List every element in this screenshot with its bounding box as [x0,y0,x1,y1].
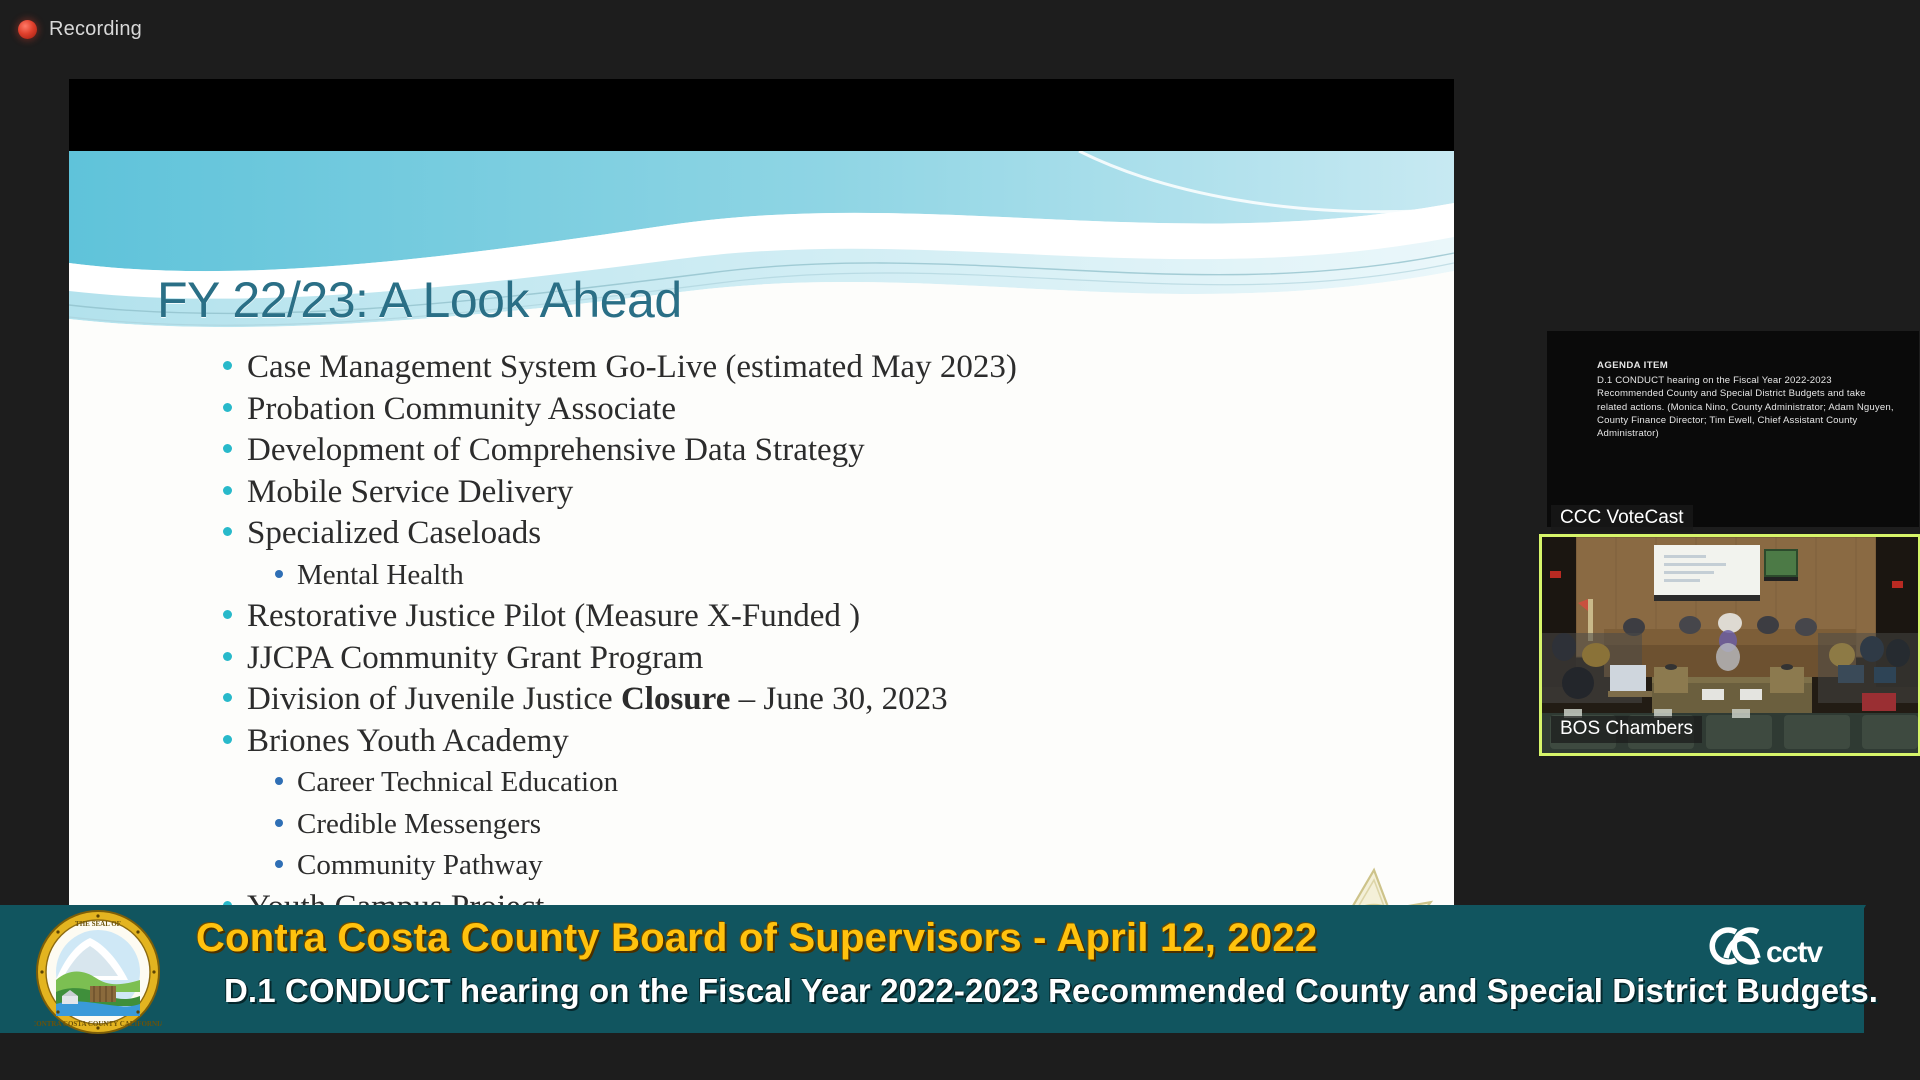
bullet-dot-icon [223,361,232,370]
svg-text:CONTRA COSTA COUNTY CALIFORNIA: CONTRA COSTA COUNTY CALIFORNIA [34,1020,162,1028]
slide-bullet-text: Mental Health [297,555,464,597]
slide-bullet-list: Case Management System Go-Live (estimate… [165,347,1345,913]
slide-bullet-item: Community Pathway [165,845,1345,887]
slide-bullet-item: JJCPA Community Grant Program [165,638,1345,680]
banner-title: Contra Costa County Board of Supervisors… [196,916,1317,961]
bullet-dot-icon [223,735,232,744]
contra-costa-county-seal-icon: THE SEAL OF CONTRA COSTA COUNTY CALIFORN… [34,908,162,1036]
bullet-dot-icon [275,860,283,868]
banner-subtitle: D.1 CONDUCT hearing on the Fiscal Year 2… [224,972,1878,1010]
slide-bullet-text: Case Management System Go-Live (estimate… [247,347,1017,389]
presentation-slide[interactable]: FY 22/23: A Look Ahead Case Management S… [69,151,1454,913]
participant-name-bos-chambers: BOS Chambers [1551,716,1702,743]
bullet-dot-icon [275,777,283,785]
bullet-dot-icon [223,527,232,536]
slide-bullet-item: Case Management System Go-Live (estimate… [165,347,1345,389]
agenda-item-text: AGENDA ITEM D.1 CONDUCT hearing on the F… [1597,359,1897,440]
slide-title: FY 22/23: A Look Ahead [157,271,682,329]
slide-bullet-item: Briones Youth Academy [165,721,1345,763]
slide-bullet-text: JJCPA Community Grant Program [247,638,703,680]
bullet-dot-icon [275,570,283,578]
slide-bullet-text: Restorative Justice Pilot (Measure X-Fun… [247,596,860,638]
bullet-dot-icon [223,444,232,453]
slide-bullet-item: Probation Community Associate [165,389,1345,431]
bullet-dot-icon [223,652,232,661]
slide-bullet-text: Mobile Service Delivery [247,472,573,514]
slide-bullet-text: Division of Juvenile Justice Closure – J… [247,679,948,721]
slide-bullet-item: Credible Messengers [165,804,1345,846]
meeting-stage: ✋ [0,0,1920,1080]
slide-bullet-text: Credible Messengers [297,804,541,846]
participant-name-votecast: CCC VoteCast [1551,505,1693,532]
svg-text:cctv: cctv [1766,936,1823,969]
shared-screen-letterbox-top [69,79,1454,151]
slide-bullet-text: Probation Community Associate [247,389,676,431]
bullet-dot-icon [223,403,232,412]
bullet-dot-icon [275,819,283,827]
agenda-item-body: D.1 CONDUCT hearing on the Fiscal Year 2… [1597,375,1894,439]
bullet-dot-icon [223,486,232,495]
slide-bullet-text: Specialized Caseloads [247,513,541,555]
slide-bullet-item: Division of Juvenile Justice Closure – J… [165,679,1345,721]
bullet-dot-icon [223,693,232,702]
slide-bullet-text: Development of Comprehensive Data Strate… [247,430,865,472]
slide-bullet-item: Mental Health [165,555,1345,597]
bullet-dot-icon [223,610,232,619]
slide-bullet-text: Career Technical Education [297,762,618,804]
slide-bullet-item: Career Technical Education [165,762,1345,804]
slide-bullet-item: Restorative Justice Pilot (Measure X-Fun… [165,596,1345,638]
slide-bullet-item: Development of Comprehensive Data Strate… [165,430,1345,472]
slide-bullet-item: Specialized Caseloads [165,513,1345,555]
slide-bullet-item: Mobile Service Delivery [165,472,1345,514]
participant-tile-votecast[interactable]: AGENDA ITEM D.1 CONDUCT hearing on the F… [1547,331,1919,527]
slide-bullet-text: Briones Youth Academy [247,721,569,763]
agenda-item-heading: AGENDA ITEM [1597,359,1897,372]
svg-text:THE SEAL OF: THE SEAL OF [75,920,121,928]
slide-bullet-text: Community Pathway [297,845,543,887]
cctv-broadcaster-logo: cctv [1700,918,1856,974]
shared-screen-window[interactable]: ✋ [69,79,1454,913]
